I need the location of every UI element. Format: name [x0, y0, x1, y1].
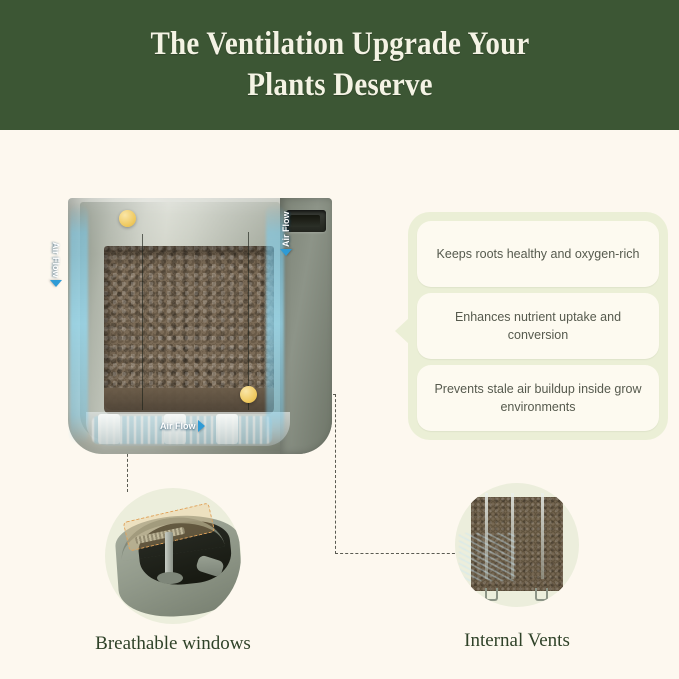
inset-internal-vents [455, 483, 579, 607]
airflow-label-right: Air Flow [280, 212, 292, 257]
leader-line-bottom-to-inset [335, 553, 460, 554]
inset-right-foot-right [535, 588, 548, 601]
airflow-arrow-bottom-icon [198, 420, 205, 432]
inset-left-shaft-base [157, 572, 183, 584]
feature-card-1-text: Keeps roots healthy and oxygen-rich [437, 245, 640, 263]
leader-line-bottom-vertical [335, 394, 336, 554]
content-stage: Air Flow Air Flow Air Flow Keeps roots h… [0, 130, 679, 679]
feature-card-2: Enhances nutrient uptake and conversion [417, 293, 659, 359]
caption-breathable-windows: Breathable windows [43, 633, 303, 655]
feature-card-3-text: Prevents stale air buildup inside grow e… [431, 380, 645, 416]
airflow-label-bottom: Air Flow [160, 420, 205, 432]
inset-breathable-windows [105, 488, 241, 624]
page-title-line-1: The Ventilation Upgrade Your [93, 24, 586, 65]
airflow-arrow-right-icon [280, 249, 292, 256]
page-title: The Ventilation Upgrade Your Plants Dese… [93, 24, 586, 107]
product-image: Air Flow Air Flow Air Flow [68, 198, 332, 454]
feature-card-2-text: Enhances nutrient uptake and conversion [431, 308, 645, 344]
wick-right [216, 414, 238, 444]
panel-seam-right [248, 232, 249, 410]
page-title-line-2: Plants Deserve [93, 65, 586, 106]
header-banner: The Ventilation Upgrade Your Plants Dese… [0, 0, 679, 130]
inset-right-foot-left [485, 588, 498, 601]
feature-list-panel: Keeps roots healthy and oxygen-rich Enha… [408, 212, 668, 440]
inset-right-airflow-jets [459, 533, 515, 581]
feature-card-1: Keeps roots healthy and oxygen-rich [417, 221, 659, 287]
wick-left [98, 414, 120, 444]
inset-right-wall-right [541, 493, 544, 579]
callout-dot-breathable-windows[interactable] [119, 210, 136, 227]
air-column-left [70, 204, 88, 444]
airflow-label-left-text: Air Flow [51, 242, 61, 278]
airflow-label-right-text: Air Flow [281, 212, 291, 248]
feature-card-3: Prevents stale air buildup inside grow e… [417, 365, 659, 431]
caption-internal-vents: Internal Vents [387, 630, 647, 652]
airflow-label-bottom-text: Air Flow [160, 421, 196, 431]
airflow-arrow-left-icon [50, 280, 62, 287]
airflow-label-left: Air Flow [50, 242, 62, 287]
callout-dot-internal-vents[interactable] [240, 386, 257, 403]
panel-seam-left [142, 234, 143, 410]
inset-left-float-shaft [165, 532, 173, 576]
vent-port-icon [286, 210, 326, 232]
